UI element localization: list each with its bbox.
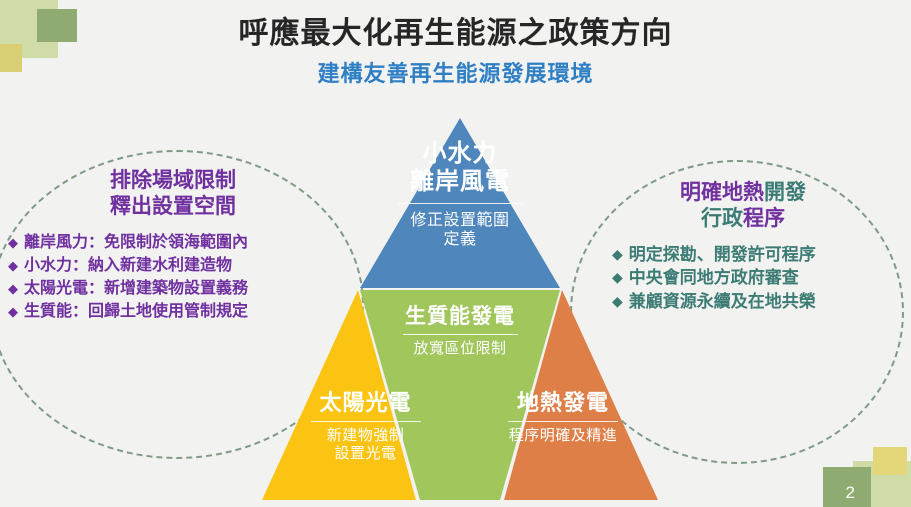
- panel-left: 排除場域限制 釋出設置空間 ◆ 離岸風力：免限制於領海範圍內 ◆ 小水力：納入新…: [8, 168, 338, 324]
- page-subtitle: 建構友善再生能源發展環境: [0, 56, 911, 88]
- panel-right-title-part1: 明確地熱: [680, 181, 764, 204]
- diamond-bullet-icon: ◆: [8, 302, 18, 322]
- pyramid-middle-sub-line1: 放寬區位限制: [370, 340, 550, 358]
- panel-right-title-line2: 行政程序: [612, 206, 874, 232]
- divider-rule: [508, 421, 618, 422]
- list-item-label: 小水力：納入新建水利建造物: [24, 256, 232, 277]
- list-item: ◆ 小水力：納入新建水利建造物: [8, 256, 338, 277]
- diamond-bullet-icon: ◆: [8, 279, 18, 299]
- pyramid-label-right: 地熱發電 程序明確及精進: [473, 390, 653, 445]
- panel-left-title-line2: 釋出設置空間: [8, 194, 338, 220]
- diamond-bullet-icon: ◆: [612, 267, 623, 288]
- decoration-bottom-right-gold: [873, 447, 907, 475]
- panel-right-title-part4: 程序: [743, 207, 785, 230]
- pyramid-top-sub-line1: 修正設置範圍: [355, 211, 565, 230]
- panel-left-title-line1: 排除場域限制: [8, 168, 338, 194]
- panel-left-title: 排除場域限制 釋出設置空間: [8, 168, 338, 219]
- divider-rule: [403, 334, 518, 335]
- pyramid-top-sub-line2: 定義: [355, 230, 565, 249]
- panel-right-title-part3: 行政: [701, 207, 743, 230]
- list-item: ◆ 離岸風力：免限制於領海範圍內: [8, 233, 338, 254]
- list-item: ◆ 明定探勘、開發許可程序: [612, 244, 874, 265]
- pyramid-right-heading-line1: 地熱發電: [473, 390, 653, 416]
- list-item-label: 太陽光電：新增建築物設置義務: [24, 279, 248, 300]
- pyramid-top-heading-line2: 離岸風電: [355, 168, 565, 196]
- pyramid-label-middle: 生質能發電 放寬區位限制: [370, 305, 550, 358]
- panel-right-title: 明確地熱開發 行政程序: [612, 180, 874, 231]
- pyramid-label-top: 小水力 離岸風電 修正設置範圍 定義: [355, 140, 565, 249]
- list-item: ◆ 兼顧資源永續及在地共榮: [612, 291, 874, 312]
- panel-right-title-line1: 明確地熱開發: [612, 180, 874, 206]
- diamond-bullet-icon: ◆: [8, 256, 18, 276]
- list-item: ◆ 太陽光電：新增建築物設置義務: [8, 279, 338, 300]
- list-item-label: 離岸風力：免限制於領海範圍內: [24, 233, 248, 254]
- panel-right-title-part2: 開發: [764, 181, 806, 204]
- list-item-label: 中央會同地方政府審查: [629, 267, 799, 288]
- panel-left-list: ◆ 離岸風力：免限制於領海範圍內 ◆ 小水力：納入新建水利建造物 ◆ 太陽光電：…: [8, 233, 338, 322]
- panel-right-list: ◆ 明定探勘、開發許可程序 ◆ 中央會同地方政府審查 ◆ 兼顧資源永續及在地共榮: [612, 244, 874, 312]
- pyramid-label-left: 太陽光電 新建物強制 設置光電: [278, 390, 453, 463]
- list-item-label: 明定探勘、開發許可程序: [629, 244, 816, 265]
- pyramid-left-heading-line1: 太陽光電: [278, 390, 453, 416]
- divider-rule: [311, 421, 421, 422]
- list-item-label: 生質能：回歸土地使用管制規定: [24, 302, 248, 323]
- page-number: 2: [846, 483, 856, 503]
- pyramid-right-sub-line1: 程序明確及精進: [473, 427, 653, 445]
- pyramid-top-heading-line1: 小水力: [355, 140, 565, 168]
- diamond-bullet-icon: ◆: [8, 233, 18, 253]
- pyramid-middle-heading-line1: 生質能發電: [370, 305, 550, 329]
- list-item: ◆ 中央會同地方政府審查: [612, 267, 874, 288]
- diamond-bullet-icon: ◆: [612, 244, 623, 265]
- panel-right: 明確地熱開發 行政程序 ◆ 明定探勘、開發許可程序 ◆ 中央會同地方政府審查 ◆…: [612, 180, 874, 314]
- pyramid-left-sub-line1: 新建物強制: [278, 427, 453, 445]
- list-item-label: 兼顧資源永續及在地共榮: [629, 291, 816, 312]
- pyramid-left-sub-line2: 設置光電: [278, 445, 453, 463]
- list-item: ◆ 生質能：回歸土地使用管制規定: [8, 302, 338, 323]
- page-title: 呼應最大化再生能源之政策方向: [0, 8, 911, 52]
- diamond-bullet-icon: ◆: [612, 291, 623, 312]
- slide-canvas: 2 呼應最大化再生能源之政策方向 建構友善再生能源發展環境 小水力 離岸風電 修…: [0, 0, 911, 507]
- divider-rule: [398, 203, 523, 204]
